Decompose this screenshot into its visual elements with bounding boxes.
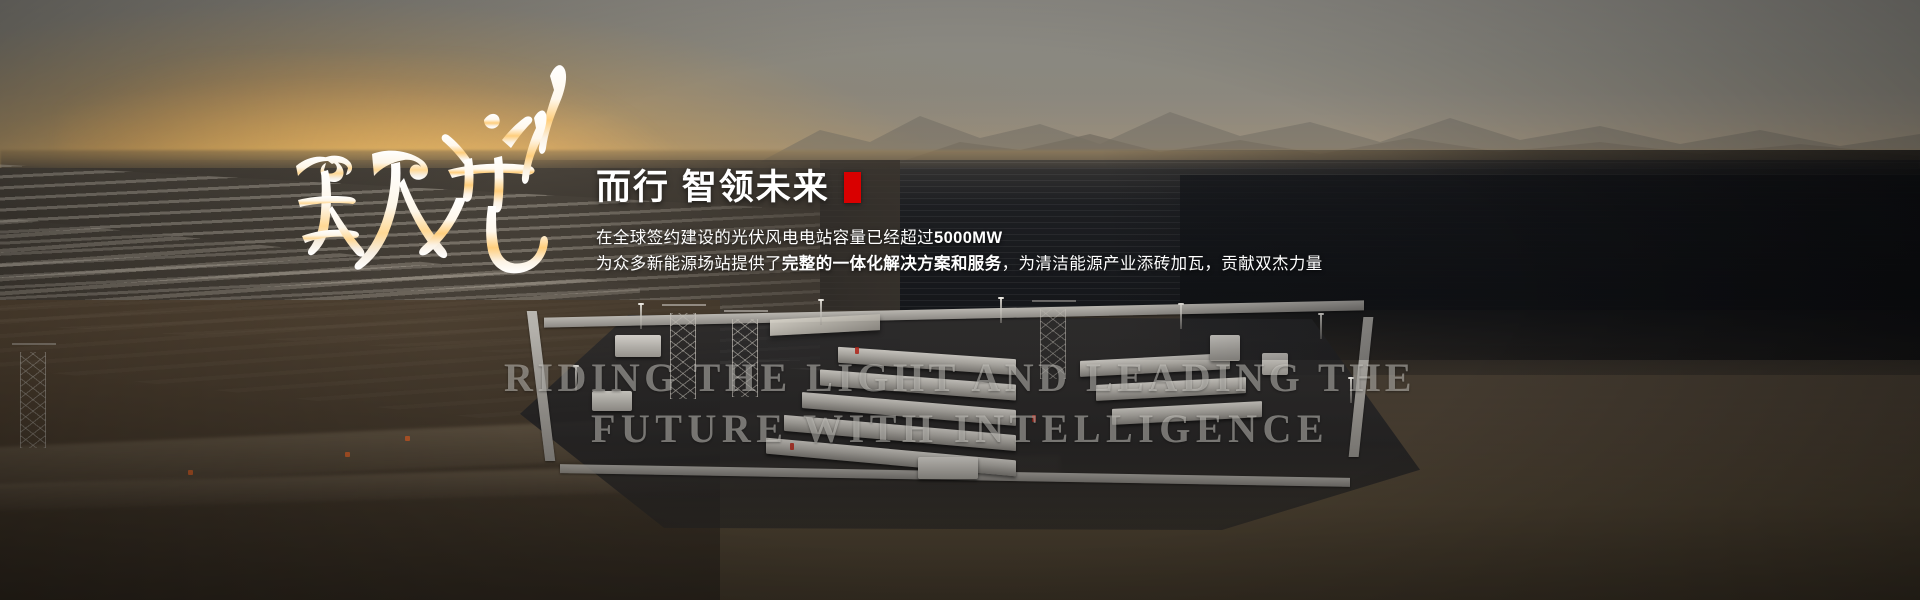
subtitle-2-plain-1: 为众多新能源场站提供了 bbox=[596, 255, 782, 273]
site-marker bbox=[345, 452, 350, 457]
marker-light bbox=[1032, 415, 1036, 422]
substation-compound bbox=[520, 295, 1420, 535]
flood-light bbox=[820, 299, 822, 325]
substation-gantry-icon bbox=[1040, 309, 1066, 379]
flood-light bbox=[640, 303, 642, 329]
flood-light bbox=[1000, 297, 1002, 323]
transformer-unit bbox=[1210, 335, 1240, 361]
accent-block bbox=[844, 172, 861, 203]
site-marker bbox=[188, 470, 193, 475]
control-building bbox=[918, 457, 978, 479]
transformer-unit bbox=[592, 391, 632, 411]
subtitle-2-bold: 完整的一体化解决方案和服务 bbox=[782, 255, 1002, 273]
substation-gantry-icon bbox=[670, 313, 696, 399]
subtitle-2-plain-2: ，为清洁能源产业添砖加瓦，贡献双杰力量 bbox=[1002, 255, 1323, 273]
flood-light bbox=[1350, 377, 1352, 403]
subtitle-line-1: 在全球签约建设的光伏风电电站容量已经超过5000MW bbox=[596, 226, 1336, 252]
subtitle-1-bold: 5000MW bbox=[934, 229, 1002, 247]
substation-gantry-icon bbox=[732, 319, 758, 397]
marker-light bbox=[855, 347, 859, 354]
subtitle-line-2: 为众多新能源场站提供了完整的一体化解决方案和服务，为清洁能源产业添砖加瓦，贡献双… bbox=[596, 252, 1336, 278]
hero-text-block: 而行 智领未来 在全球签约建设的光伏风电电站容量已经超过5000MW 为众多新能… bbox=[596, 165, 1336, 277]
transformer-unit bbox=[1262, 353, 1288, 375]
subtitle-1-plain-1: 在全球签约建设的光伏风电电站容量已经超过 bbox=[596, 229, 934, 247]
flood-light bbox=[575, 365, 577, 391]
flood-light bbox=[1320, 313, 1322, 339]
distant-mountains-icon bbox=[0, 72, 1920, 162]
page-title: 而行 智领未来 bbox=[596, 170, 830, 205]
hero-banner: 而行 智领未来 在全球签约建设的光伏风电电站容量已经超过5000MW 为众多新能… bbox=[0, 0, 1920, 600]
headline-row: 而行 智领未来 bbox=[596, 165, 1336, 209]
transmission-tower-icon bbox=[20, 352, 46, 448]
flood-light bbox=[1180, 303, 1182, 329]
site-marker bbox=[405, 436, 410, 441]
transformer-unit bbox=[615, 335, 661, 357]
marker-light bbox=[790, 443, 794, 450]
